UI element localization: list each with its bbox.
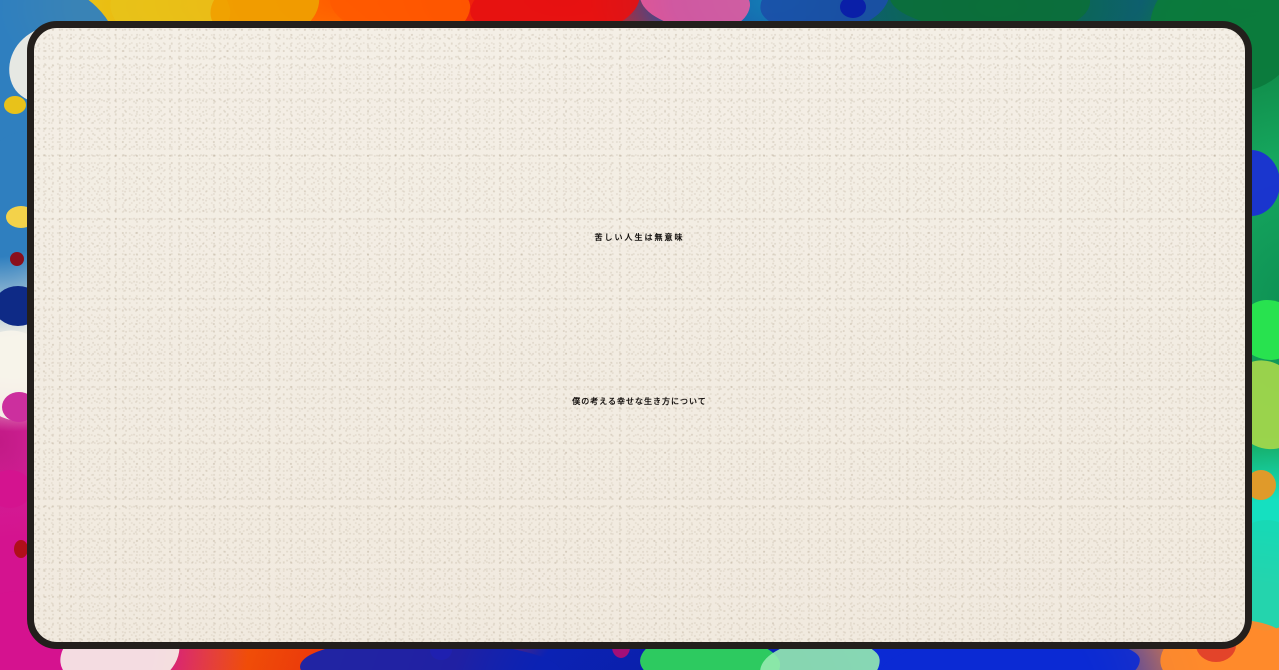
paint-splatter-3 xyxy=(4,96,26,114)
paper-card: 苦しい人生は無意味 僕の考える幸せな生き方について xyxy=(27,21,1252,649)
page-subtitle: 僕の考える幸せな生き方について xyxy=(34,398,1245,407)
thumbnail-stage: 苦しい人生は無意味 僕の考える幸せな生き方について xyxy=(0,0,1279,670)
paint-splatter-7 xyxy=(10,252,24,266)
page-title: 苦しい人生は無意味 xyxy=(34,234,1245,242)
card-content: 苦しい人生は無意味 僕の考える幸せな生き方について xyxy=(34,28,1245,642)
paint-splatter-11 xyxy=(14,540,28,558)
